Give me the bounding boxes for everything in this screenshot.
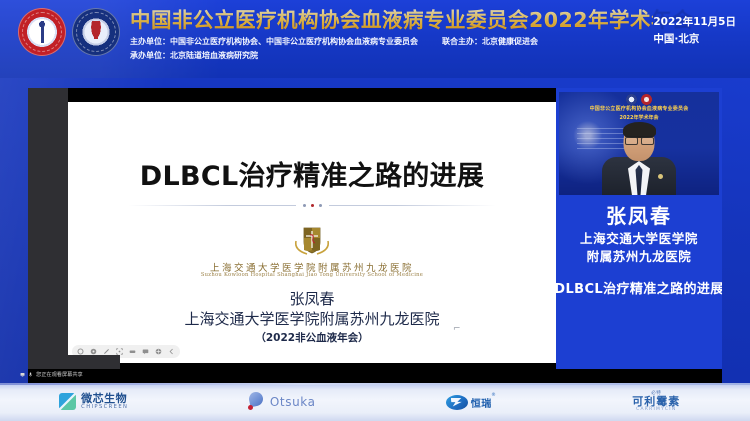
speaker-head [624, 123, 655, 161]
slide-event-note: （2022非公血液年会） [68, 330, 556, 345]
eraser-icon[interactable] [129, 348, 136, 355]
organizer-line: 主办单位：中国非公立医疗机构协会、中国非公立医疗机构协会血液病专业委员会 [130, 36, 418, 48]
divider-dot [303, 204, 306, 207]
select-target-icon[interactable] [90, 348, 97, 355]
speaker-affiliation-line2: 附属苏州九龙医院 [556, 246, 722, 265]
otsuka-red-dot [248, 405, 253, 410]
conference-location: 中国·北京 [653, 31, 736, 48]
save-icon[interactable] [155, 348, 162, 355]
spotlight-icon[interactable] [116, 348, 123, 355]
header-date-block: 2022年11月5日 中国·北京 [653, 14, 736, 48]
zoom-strip-tab [40, 355, 120, 369]
speaker-affiliation-line1: 上海交通大学医学院 [556, 228, 722, 247]
video-backdrop-emblems [626, 94, 652, 105]
sponsor-chipscreen: 微芯生物 CHIPSCREEN [0, 393, 188, 410]
pen-icon[interactable] [103, 348, 110, 355]
sponsor-bar: 微芯生物 CHIPSCREEN Otsuka 恒瑞 ® [0, 383, 750, 421]
sponsor-name-en: Otsuka [270, 395, 316, 409]
slide-presenter-name: 张凤春 [68, 288, 556, 309]
co-organizer-line: 联合主办：北京健康促进会 [442, 36, 538, 48]
conference-livestream-page: 中国非公立医疗机构协会血液病专业委员会2022年学术年会 主办单位：中国非公立医… [0, 0, 750, 421]
hospital-crest-icon [289, 226, 335, 256]
screen-share-icon [20, 372, 25, 377]
registered-trademark-icon: ® [491, 393, 496, 398]
speaker-video-tile[interactable]: 中国非公立医疗机构协会血液病专业委员会 2022年学术年会 [559, 92, 719, 195]
hengrui-logo-icon: 恒瑞 ® [446, 395, 492, 410]
sponsor-name-cn: 恒瑞 [471, 395, 492, 410]
chipscreen-logo-icon [59, 393, 76, 410]
header-emblems [18, 8, 120, 56]
presentation-slide[interactable]: DLBCL治疗精准之路的进展 [68, 102, 556, 363]
conference-date: 2022年11月5日 [653, 14, 736, 31]
sponsor-name-en: CHIPSCREEN [81, 405, 128, 411]
hospital-name-en: Suzhou Kowloon Hospital Shanghai Jiao To… [68, 272, 556, 278]
sponsor-name-en: CARRIMYCIN [632, 408, 680, 413]
host-line: 承办单位：北京陆道培血液病研究院 [130, 50, 653, 62]
speaker-figure [602, 123, 676, 195]
speaker-name: 张凤春 [556, 200, 722, 229]
divider-dot [319, 204, 322, 207]
speaker-topic: DLBCL治疗精准之路的进展 [556, 278, 722, 297]
backdrop-emblem-right [641, 94, 652, 105]
divider-dots [296, 204, 329, 207]
cnmiach-emblem [72, 8, 120, 56]
screen-share-label: 您正在观看屏幕共享 [36, 371, 83, 378]
otsuka-logo-icon [247, 392, 265, 412]
sponsor-hengrui: 恒瑞 ® [375, 395, 563, 410]
emblem-ring [76, 12, 116, 52]
header-text-block: 中国非公立医疗机构协会血液病专业委员会2022年学术年会 主办单位：中国非公立医… [120, 0, 653, 62]
divider-dot-accent [311, 204, 314, 207]
microphone-icon [28, 372, 33, 377]
screen-share-status: 您正在观看屏幕共享 [20, 371, 83, 378]
conference-title: 中国非公立医疗机构协会血液病专业委员会2022年学术年会 [130, 9, 653, 32]
sponsor-otsuka: Otsuka [188, 392, 376, 412]
mouse-pointer-icon[interactable] [77, 348, 84, 355]
video-backdrop-title: 中国非公立医疗机构协会血液病专业委员会 [567, 105, 711, 112]
conference-header-banner: 中国非公立医疗机构协会血液病专业委员会2022年学术年会 主办单位：中国非公立医… [0, 0, 750, 78]
hengrui-mark-shape [446, 395, 468, 410]
zoom-status-strip [28, 369, 722, 383]
emblem-ring [22, 12, 62, 52]
speaker-panel: 中国非公立医疗机构协会血液病专业委员会 2022年学术年会 张凤春 上海交通大学… [556, 88, 722, 383]
slide-divider [128, 202, 496, 208]
slide-presenter-affiliation: 上海交通大学医学院附属苏州九龙医院 [68, 308, 556, 329]
backdrop-emblem-left [626, 94, 637, 105]
speaker-glasses [625, 136, 654, 144]
carrimycin-logo-icon: 必特 可利霉素 CARRIMYCIN [632, 391, 680, 413]
cnmia-emblem [18, 8, 66, 56]
speaker-lapel-badge [658, 174, 663, 179]
chevron-left-icon[interactable] [168, 348, 175, 355]
comment-icon[interactable] [142, 348, 149, 355]
slide-title: DLBCL治疗精准之路的进展 [68, 154, 556, 193]
mouse-cursor-icon: ⌐ [453, 324, 458, 332]
divider-line-right [329, 205, 497, 206]
video-backdrop-subtitle: 2022年学术年会 [567, 114, 711, 121]
divider-line-left [128, 205, 296, 206]
sponsor-carrimycin: 必特 可利霉素 CARRIMYCIN [563, 391, 750, 413]
